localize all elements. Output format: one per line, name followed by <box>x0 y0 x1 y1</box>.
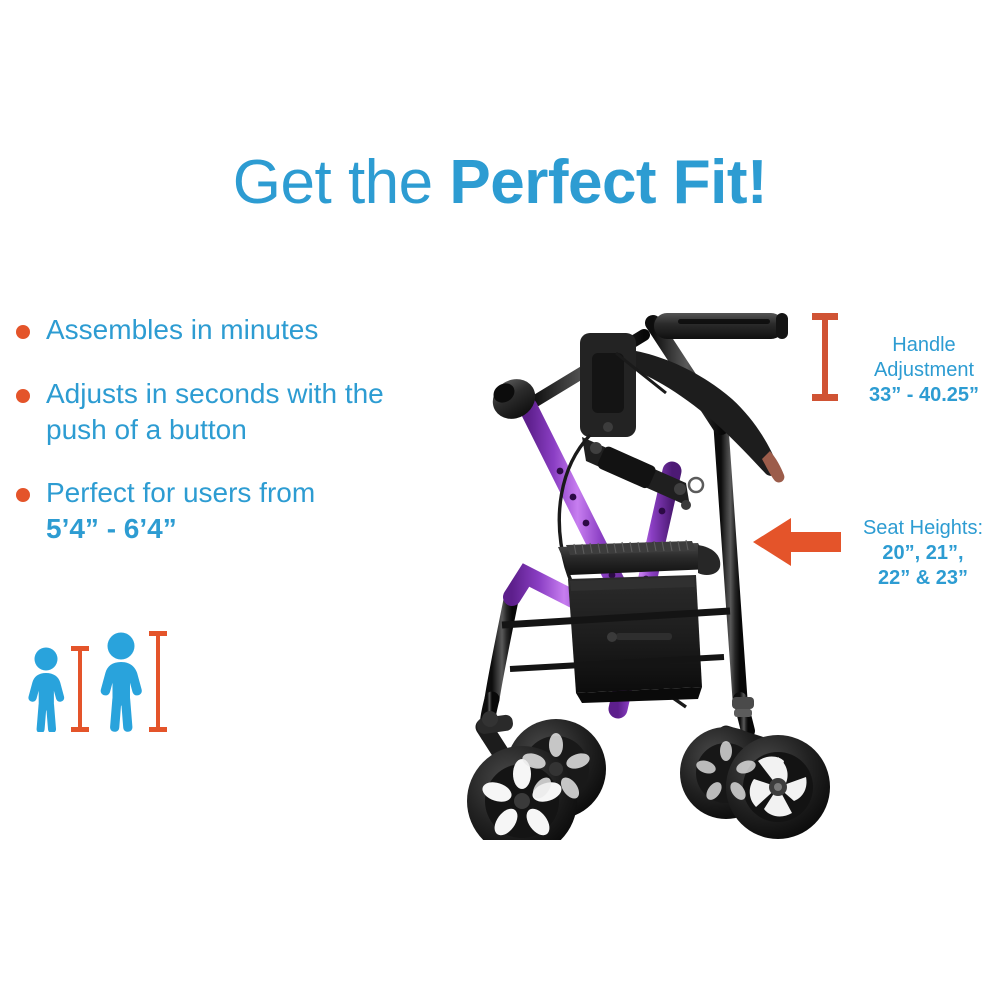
page-title: Get the Perfect Fit! <box>0 152 1000 214</box>
seat-heights-callout: Seat Heights: 20”, 21”, 22” & 23” <box>846 516 1000 591</box>
shorter-user-measure-bar <box>78 646 82 732</box>
bullet-dot-icon <box>16 488 30 502</box>
list-item-label: Assembles in minutes <box>46 312 428 348</box>
handle-callout-value: 33” - 40.25” <box>848 383 1000 408</box>
bullet-dot-icon <box>16 325 30 339</box>
list-item: Adjusts in seconds with the push of a bu… <box>8 376 428 448</box>
list-item: Assembles in minutes <box>8 312 428 348</box>
handle-adjustment-measure-bar <box>822 313 828 401</box>
front-lower-leg-tube <box>492 595 512 699</box>
seat-callout-value-line-2: 22” & 23” <box>846 566 1000 591</box>
seat-callout-value-line-1: 20”, 21”, <box>846 541 1000 566</box>
taller-user-measure-bar <box>156 631 160 732</box>
list-item-label: Adjusts in seconds with the push of a bu… <box>46 376 428 448</box>
bullet-dot-icon <box>16 389 30 403</box>
taller-user-figure <box>98 631 150 732</box>
handle-adjustment-callout: Handle Adjustment 33” - 40.25” <box>848 333 1000 408</box>
list-item: Perfect for users from 5’4” - 6’4” <box>8 475 428 547</box>
page-title-bold: Perfect Fit! <box>449 148 767 217</box>
list-item-label: Perfect for users from 5’4” - 6’4” <box>46 475 428 547</box>
storage-pouch <box>568 575 702 703</box>
measure-cap-top <box>149 631 167 636</box>
list-item-emphasis: 5’4” - 6’4” <box>46 511 428 547</box>
list-item-text: Perfect for users from <box>46 477 315 508</box>
left-arrow-icon <box>753 516 841 568</box>
measure-cap-top <box>812 313 838 320</box>
seat-callout-label: Seat Heights: <box>863 517 983 539</box>
handle-callout-label-line-1: Handle <box>892 334 955 356</box>
measure-cap-bottom <box>812 394 838 401</box>
frame-hinge-bracket <box>582 437 703 510</box>
seat-pad <box>558 540 720 575</box>
infographic-canvas: Get the Perfect Fit! Assembles in minute… <box>0 0 1000 1000</box>
measure-cap-bottom <box>71 727 89 732</box>
brake-lever <box>632 351 784 482</box>
rear-wheels <box>680 727 830 839</box>
measure-cap-bottom <box>149 727 167 732</box>
handle-grip <box>654 313 788 339</box>
page-title-light: Get the <box>233 148 450 217</box>
measure-cap-top <box>71 646 89 651</box>
brake-housing <box>580 333 636 437</box>
shorter-user-figure <box>26 646 72 732</box>
feature-list: Assembles in minutes Adjusts in seconds … <box>8 312 428 575</box>
handle-callout-label-line-2: Adjustment <box>874 359 974 381</box>
two-person-height-comparison-icon <box>26 622 166 732</box>
